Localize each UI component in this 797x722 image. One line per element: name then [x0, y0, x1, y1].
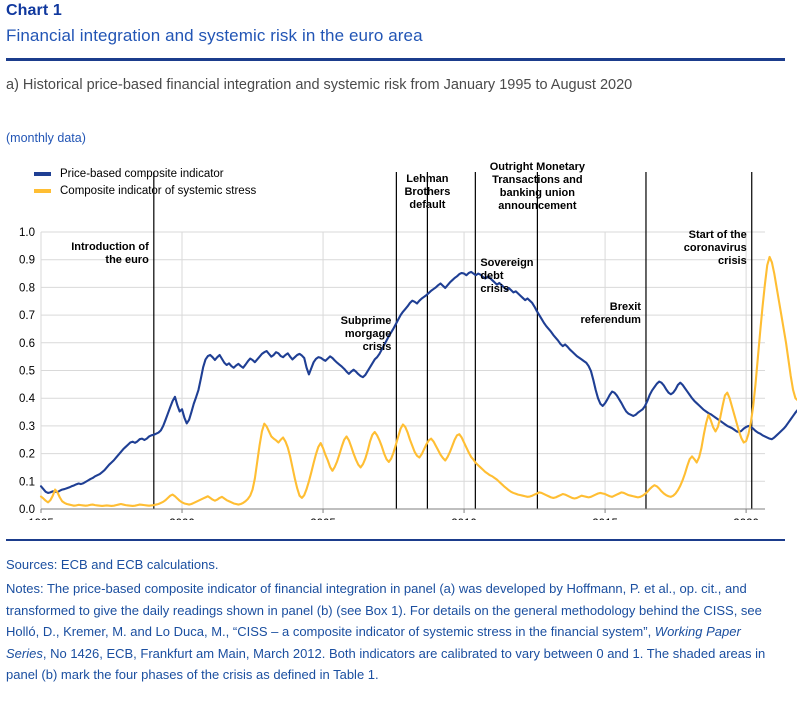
- y-axis-tick-label: 1.0: [19, 227, 35, 239]
- chart-annotation: Brexitreferendum: [580, 301, 641, 326]
- footer-divider: [6, 539, 785, 541]
- x-axis-tick-label: 2015: [592, 518, 618, 520]
- annotation-line: morgage: [345, 328, 391, 340]
- notes-part-1: Notes: The price-based composite indicat…: [6, 581, 762, 639]
- y-axis-tick-label: 0.9: [19, 255, 35, 267]
- annotation-line: crisis: [480, 283, 509, 295]
- y-axis-tick-label: 0.8: [19, 282, 35, 294]
- y-axis-tick-label: 0.3: [19, 421, 35, 433]
- y-axis-tick-label: 0.6: [19, 338, 35, 350]
- notes-text: Notes: The price-based composite indicat…: [6, 578, 778, 686]
- chart-annotation: Subprimemorgagecrisis: [341, 315, 392, 353]
- y-axis-tick-label: 0.0: [19, 504, 35, 516]
- annotation-line: announcement: [498, 200, 577, 212]
- annotation-line: the euro: [105, 254, 149, 266]
- panel-a-title: a) Historical price-based financial inte…: [6, 74, 766, 96]
- y-axis-tick-label: 0.5: [19, 366, 35, 378]
- annotation-line: default: [409, 199, 445, 211]
- y-axis-tick-label: 0.1: [19, 476, 35, 488]
- chart-page: Chart 1 Financial integration and system…: [0, 0, 797, 722]
- plot-area: 0.00.10.20.30.40.50.60.70.80.91.01995200…: [0, 160, 797, 520]
- sources-text: Sources: ECB and ECB calculations.: [6, 557, 218, 572]
- annotation-line: Start of the: [689, 229, 747, 241]
- annotation-line: banking union: [500, 187, 575, 199]
- x-axis-tick-label: 2005: [310, 518, 336, 520]
- annotation-line: Transactions and: [492, 174, 582, 186]
- chart-annotation: Start of thecoronaviruscrisis: [684, 229, 747, 267]
- x-axis-tick-label: 2010: [451, 518, 477, 520]
- units-label: (monthly data): [6, 131, 86, 145]
- annotation-line: Lehman: [406, 173, 448, 185]
- annotation-line: Sovereign: [480, 257, 533, 269]
- annotation-line: crisis: [718, 255, 747, 267]
- chart-annotation: Outright MonetaryTransactions andbanking…: [490, 161, 586, 212]
- chart-annotation: Sovereigndebtcrisis: [480, 257, 533, 295]
- chart-title: Financial integration and systemic risk …: [6, 26, 423, 46]
- annotation-line: Introduction of: [71, 241, 149, 253]
- x-axis-tick-label: 2020: [733, 518, 759, 520]
- annotation-line: debt: [480, 270, 504, 282]
- annotation-line: Subprime: [341, 315, 392, 327]
- header-divider: [6, 58, 785, 61]
- chart-annotation: LehmanBrothersdefault: [404, 173, 450, 211]
- x-axis-tick-label: 2000: [169, 518, 195, 520]
- annotation-line: Outright Monetary: [490, 161, 586, 173]
- y-axis-tick-label: 0.7: [19, 310, 35, 322]
- chart-annotation: Introduction ofthe euro: [71, 241, 149, 266]
- y-axis-tick-label: 0.2: [19, 449, 35, 461]
- y-axis-tick-label: 0.4: [19, 393, 36, 405]
- x-axis-tick-label: 1995: [28, 518, 54, 520]
- annotation-line: crisis: [363, 341, 392, 353]
- notes-part-2: , No 1426, ECB, Frankfurt am Main, March…: [6, 646, 765, 683]
- line-chart-svg: 0.00.10.20.30.40.50.60.70.80.91.01995200…: [0, 160, 797, 520]
- annotation-line: Brothers: [404, 186, 450, 198]
- annotation-line: coronavirus: [684, 242, 747, 254]
- annotation-line: referendum: [580, 314, 641, 326]
- chart-number-label: Chart 1: [6, 2, 62, 20]
- annotation-line: Brexit: [610, 301, 642, 313]
